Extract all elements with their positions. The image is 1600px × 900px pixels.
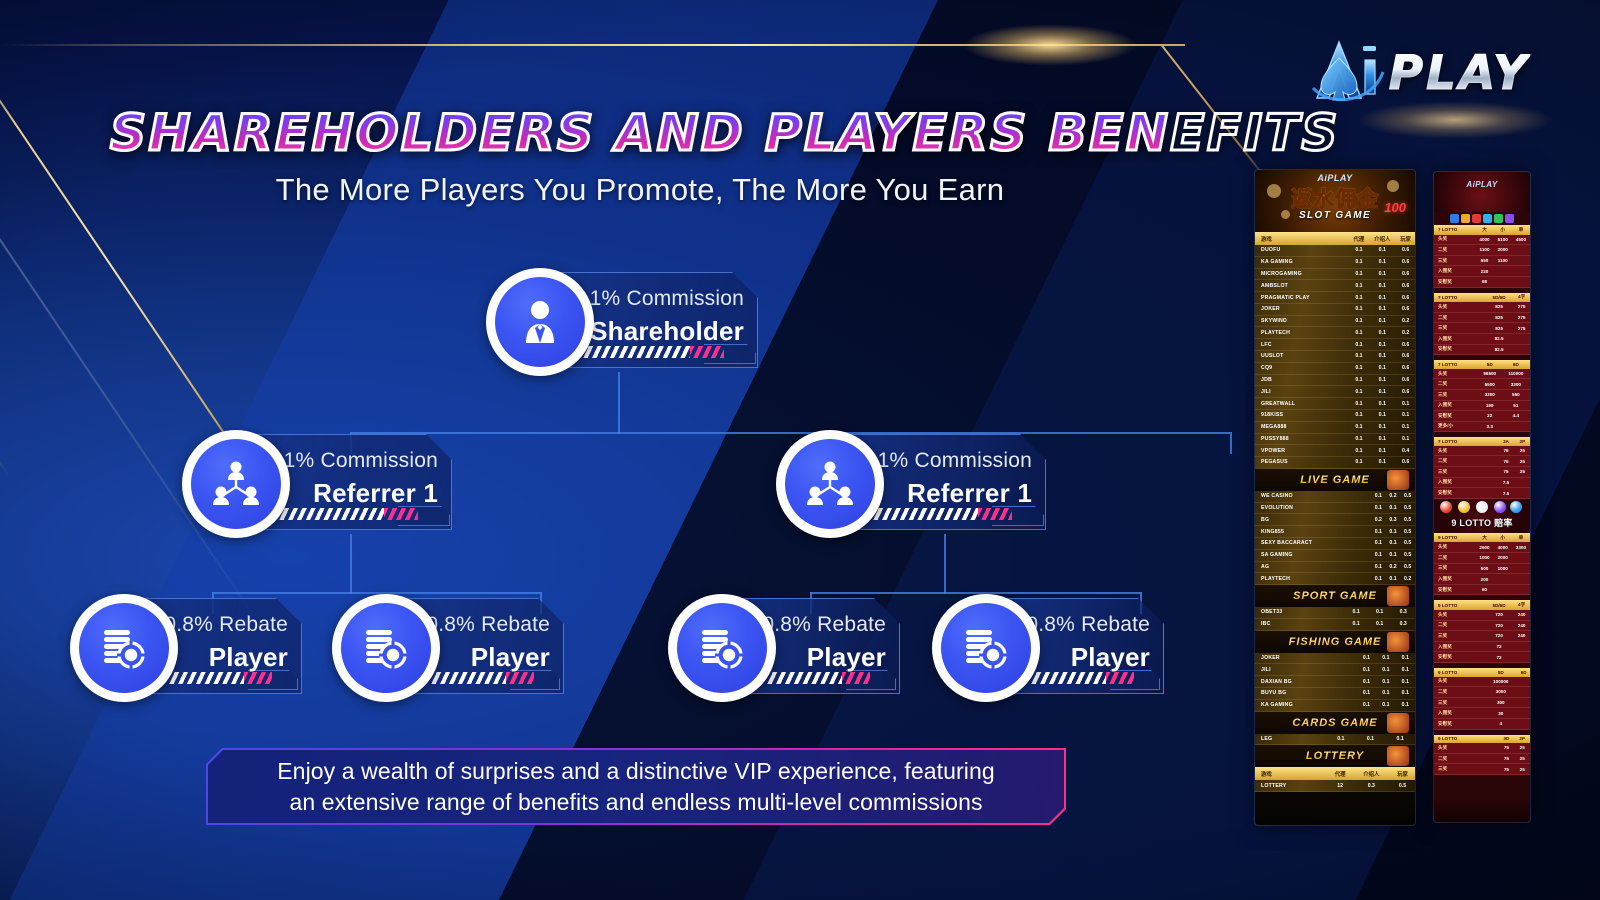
table-cell-odds: 60 — [1475, 584, 1493, 595]
table-cell-game-name: MEGA888 — [1255, 421, 1350, 433]
table-cell-rate: 0.2 — [1396, 315, 1415, 327]
table-cell-game-name: MICROGAMING — [1255, 268, 1350, 280]
phone1-rate-table: WE CASINO0.10.20.5EVOLUTION0.10.10.5BG0.… — [1255, 491, 1415, 585]
table-column-header: 7 LOTTO — [1434, 437, 1497, 446]
table-cell-rate: 0.2 — [1400, 573, 1415, 585]
table-cell-prize-tier: 安慰奖 — [1434, 584, 1475, 595]
table-column-header: 3D — [1498, 735, 1514, 744]
table-cell-rate: 0.1 — [1371, 491, 1386, 502]
table-cell-odds — [1517, 677, 1530, 687]
table-cell-game-name: DAXIAN BG — [1255, 676, 1357, 688]
node-player-2-stripes-accent — [506, 672, 534, 684]
table-cell-odds: 720 — [1485, 631, 1513, 642]
table-cell-rate: 0.1 — [1344, 618, 1368, 630]
vip-banner-line-1: Enjoy a wealth of surprises and a distin… — [277, 756, 995, 787]
table-cell-odds: 75 — [1497, 467, 1514, 478]
node-referrer-right-avatar — [776, 430, 884, 538]
table-cell-game-name: PUSSY888 — [1255, 433, 1350, 445]
table-row: KA GAMING0.10.10.1 — [1255, 699, 1415, 711]
table-cell-rate: 0.1 — [1350, 351, 1369, 363]
phone1-section-title: LIVE GAME — [1255, 469, 1415, 491]
node-shareholder-stripes-accent — [690, 346, 724, 358]
table-row: PUSSY8880.10.10.1 — [1255, 433, 1415, 445]
table-cell-prize-tier: 头奖 — [1434, 235, 1475, 245]
table-cell-prize-tier: 二奖 — [1434, 245, 1475, 256]
table-cell-rate: 0.1 — [1376, 664, 1395, 676]
table-cell-rate: 0.6 — [1396, 339, 1415, 351]
page-title: SHAREHOLDERS AND PLAYERS BENEFITS — [110, 104, 1170, 162]
table-cell-rate: 0.1 — [1350, 445, 1369, 457]
table-cell-game-name: LFC — [1255, 339, 1350, 351]
table-cell-game-name: KING855 — [1255, 526, 1371, 538]
app-icon-3[interactable] — [1472, 214, 1481, 223]
table-cell-prize-tier: 安慰奖 — [1434, 718, 1484, 729]
table-cell-rate: 0.1 — [1350, 327, 1369, 339]
table-column-header: 5D/6D — [1485, 600, 1513, 610]
table-cell-odds: 275 — [1513, 323, 1530, 334]
node-shareholder-avatar — [486, 268, 594, 376]
table-cell-odds: 75 — [1497, 446, 1514, 456]
phone1-section-title-text: LOTTERY — [1306, 750, 1364, 762]
table-cell-rate: 0.5 — [1400, 491, 1415, 502]
table-cell-rate: 0.1 — [1371, 537, 1386, 549]
node-player-3-stripes-accent — [842, 672, 870, 684]
table-cell-odds — [1494, 276, 1512, 287]
table-cell-odds: 2000 — [1494, 553, 1512, 564]
phone1-rate-table: JOKER0.10.10.1JILI0.10.10.1DAXIAN BG0.10… — [1255, 653, 1415, 712]
table-cell-rate: 0.1 — [1350, 457, 1369, 469]
phone2-lotto-banner: 9 LOTTO 赔率 — [1434, 499, 1530, 533]
table-column-header: 2P — [1514, 735, 1530, 744]
phone1-section-title: SPORT GAME — [1255, 585, 1415, 607]
table-cell-odds: 240 — [1513, 620, 1530, 631]
table-cell-prize-tier: 安慰奖 — [1434, 652, 1485, 663]
table-cell-prize-tier: 头奖 — [1434, 369, 1478, 379]
table-cell-odds — [1513, 344, 1530, 355]
table-cell-game-name: GREATWALL — [1255, 398, 1350, 410]
table-cell-prize-tier: 安慰奖 — [1434, 276, 1475, 287]
table-cell-odds: 25 — [1514, 764, 1530, 775]
table-row: KA GAMING0.10.10.6 — [1255, 256, 1415, 268]
phone2-odds-table: 9 LOTTO大小单头奖260040003300二奖10002000三奖5001… — [1434, 533, 1530, 596]
table-cell-prize-tier: 安慰奖 — [1434, 344, 1485, 355]
table-row: 二奖11002000 — [1434, 245, 1530, 256]
table-column-header: 7 LOTTO — [1434, 293, 1485, 303]
table-cell-odds: 25 — [1514, 743, 1530, 753]
casino-chips-icon — [362, 625, 410, 671]
table-cell-odds — [1513, 652, 1530, 663]
table-cell-odds: 25 — [1515, 456, 1530, 467]
table-cell-prize-tier: 三奖 — [1434, 563, 1475, 574]
table-cell-rate: 0.1 — [1350, 339, 1369, 351]
table-cell-rate: 0.1 — [1368, 409, 1396, 421]
table-cell-rate: 0.1 — [1368, 374, 1396, 386]
table-cell-rate: 0.1 — [1396, 433, 1415, 445]
table-cell-prize-tier: 三奖 — [1434, 323, 1485, 334]
table-cell-rate: 0.1 — [1350, 315, 1369, 327]
table-cell-prize-tier: 入围奖 — [1434, 477, 1497, 488]
table-cell-odds — [1512, 266, 1530, 277]
table-cell-rate: 0.6 — [1396, 362, 1415, 374]
table-cell-odds: 100000 — [1484, 677, 1517, 687]
table-cell-rate: 0.1 — [1386, 537, 1401, 549]
table-cell-odds: 75 — [1498, 743, 1514, 753]
phone2-odds-table: 9 LOTTO5D6D头奖100000二奖3000三奖300入围奖30安慰奖4 — [1434, 668, 1530, 730]
table-cell-rate: 0.1 — [1376, 676, 1395, 688]
table-cell-odds: 110000 — [1502, 369, 1530, 379]
table-cell-odds — [1513, 641, 1530, 652]
node-shareholder-stripes — [580, 346, 690, 358]
table-cell-odds: 2000 — [1494, 245, 1512, 256]
table-cell-rate: 0.6 — [1396, 292, 1415, 304]
table-cell-rate: 0.6 — [1396, 303, 1415, 315]
phone2-brand: AiPLAY — [1466, 180, 1497, 189]
node-player-2-stripes — [428, 672, 506, 684]
table-column-header: 小 — [1494, 225, 1512, 235]
table-row: 入围奖200 — [1434, 574, 1530, 585]
spark-decor — [1387, 180, 1399, 192]
table-row: 二奖825275 — [1434, 312, 1530, 323]
table-cell-odds: 7.5 — [1497, 488, 1514, 499]
table-row: BUYU BG0.10.10.1 — [1255, 688, 1415, 700]
table-row: 安慰奖82.5 — [1434, 344, 1530, 355]
table-cell-game-name: PLAYTECH — [1255, 327, 1350, 339]
phone-mockup-lotto-odds[interactable]: AiPLAY 7 LOTTO大小单头奖400051004500二奖1100200… — [1434, 172, 1530, 822]
table-cell-rate: 0.1 — [1371, 549, 1386, 561]
phone1-section-title: LOTTERY — [1255, 745, 1415, 767]
table-cell-odds — [1512, 255, 1530, 266]
phone2-odds-table: 7 LOTTO大小单头奖400051004500二奖11002000三奖5501… — [1434, 225, 1530, 288]
table-row: LFC0.10.10.6 — [1255, 339, 1415, 351]
table-cell-odds: 275 — [1513, 312, 1530, 323]
table-cell-rate: 0.1 — [1368, 245, 1396, 256]
table-cell-prize-tier: 头奖 — [1434, 610, 1485, 620]
table-row: 三奖825275 — [1434, 323, 1530, 334]
table-cell-prize-tier: 入围奖 — [1434, 708, 1484, 719]
node-player-4-avatar — [932, 594, 1040, 702]
table-cell-rate: 0.2 — [1371, 514, 1386, 526]
table-row: 安慰奖72 — [1434, 652, 1530, 663]
spark-decor — [1267, 184, 1281, 198]
phone2-odds-blocks[interactable]: 7 LOTTO大小单头奖400051004500二奖11002000三奖5501… — [1434, 225, 1530, 775]
table-cell-odds — [1512, 574, 1530, 585]
lottery-ball-icon — [1458, 501, 1470, 513]
node-referrer-right-stripes — [870, 508, 978, 520]
table-cell-rate: 0.1 — [1350, 409, 1369, 421]
table-cell-odds — [1502, 421, 1530, 432]
casino-chips-icon — [698, 625, 746, 671]
lottery-ball-icon — [1476, 501, 1488, 513]
table-cell-rate: 0.1 — [1368, 362, 1396, 374]
connector-referrer-right-down — [944, 534, 946, 594]
table-header-row: 9 LOTTO5D6D — [1434, 668, 1530, 677]
table-cell-odds — [1517, 708, 1530, 719]
table-cell-prize-tier: 头奖 — [1434, 446, 1497, 456]
table-cell-prize-tier: 二奖 — [1434, 553, 1475, 564]
table-cell-rate: 0.5 — [1400, 561, 1415, 573]
table-cell-rate: 0.1 — [1368, 327, 1396, 339]
table-cell-odds: 75 — [1497, 456, 1514, 467]
table-row: EVOLUTION0.10.10.5 — [1255, 502, 1415, 514]
vip-banner: Enjoy a wealth of surprises and a distin… — [206, 748, 1066, 825]
table-row: 二奖7525 — [1434, 456, 1530, 467]
table-cell-odds: 75 — [1498, 764, 1514, 775]
table-cell-rate: 0.1 — [1368, 398, 1396, 410]
table-row: PLAYTECH0.10.10.2 — [1255, 573, 1415, 585]
table-cell-rate: 0.1 — [1368, 292, 1396, 304]
table-cell-odds: 72 — [1485, 641, 1513, 652]
table-cell-rate: 0.1 — [1396, 699, 1415, 711]
table-cell-odds: 3.3 — [1478, 421, 1502, 432]
phone1-section-title: CARDS GAME — [1255, 712, 1415, 734]
table-cell-rate: 0.1 — [1350, 280, 1369, 292]
table-cell-prize-tier: 入围奖 — [1434, 266, 1475, 277]
table-cell-odds: 199 — [1478, 400, 1502, 411]
table-row: 头奖825275 — [1434, 302, 1530, 312]
table-cell-rate: 0.1 — [1368, 256, 1396, 268]
table-row: KING8550.10.10.5 — [1255, 526, 1415, 538]
table-column-header: 大 — [1475, 533, 1493, 543]
table-row: 头奖100000 — [1434, 677, 1530, 687]
table-cell-game-name: LEG — [1255, 734, 1326, 745]
app-icon-2[interactable] — [1461, 214, 1470, 223]
table-cell-game-name: DUOFU — [1255, 245, 1350, 256]
table-row: 入围奖72 — [1434, 641, 1530, 652]
person-tie-icon — [518, 299, 562, 345]
table-cell-rate: 0.1 — [1396, 653, 1415, 664]
table-cell-rate: 0.1 — [1396, 421, 1415, 433]
table-cell-odds: 300 — [1484, 697, 1517, 708]
table-cell-odds: 2600 — [1475, 542, 1493, 552]
table-row: 三奖300 — [1434, 697, 1530, 708]
table-cell-rate: 0.1 — [1350, 386, 1369, 398]
table-row: SKYWIND0.10.10.2 — [1255, 315, 1415, 327]
table-row: JILI0.10.10.6 — [1255, 386, 1415, 398]
table-cell-odds: 4000 — [1494, 542, 1512, 552]
table-cell-odds: 3000 — [1484, 687, 1517, 698]
phone2-odds-table: 7 LOTTO3A2P头奖7525二奖7525三奖7525入围奖7.5安慰奖7.… — [1434, 437, 1530, 499]
table-column-header: 5D — [1484, 668, 1517, 677]
table-row: DUOFU0.10.10.6 — [1255, 245, 1415, 256]
table-cell-prize-tier: 二奖 — [1434, 687, 1484, 698]
phone1-brand: AiPLAY — [1317, 173, 1352, 183]
phone2-odds-table: 9 LOTTO3D2P头奖7525二奖7525三奖7525 — [1434, 735, 1530, 775]
table-cell-game-name: WE CASINO — [1255, 491, 1371, 502]
phone1-sections[interactable]: 游戏代理介绍人玩家DUOFU0.10.10.6KA GAMING0.10.10.… — [1255, 232, 1415, 792]
phone2-odds-table: 7 LOTTO5D/6D4字头奖825275二奖825275三奖825275入围… — [1434, 293, 1530, 356]
table-cell-rate: 0.1 — [1368, 268, 1396, 280]
table-cell-rate: 0.4 — [1396, 445, 1415, 457]
table-column-header: 5D/6D — [1485, 293, 1513, 303]
table-column-header: 6D — [1502, 360, 1530, 369]
app-icon-6[interactable] — [1505, 214, 1514, 223]
table-cell-rate: 0.1 — [1356, 734, 1386, 745]
app-icon-5[interactable] — [1494, 214, 1503, 223]
table-column-header: 7 LOTTO — [1434, 225, 1475, 235]
table-cell-rate: 0.1 — [1350, 268, 1369, 280]
table-cell-rate: 0.6 — [1396, 280, 1415, 292]
table-cell-odds — [1512, 563, 1530, 574]
table-row: 入围奖7.5 — [1434, 477, 1530, 488]
table-row: JDB0.10.10.6 — [1255, 374, 1415, 386]
table-row: 入围奖220 — [1434, 266, 1530, 277]
table-column-header: 代理 — [1328, 767, 1353, 780]
table-cell-game-name: PEGASUS — [1255, 457, 1350, 469]
spark-decor — [1281, 210, 1290, 219]
node-referrer-right[interactable]: 0.1% Commission Referrer 1 — [776, 430, 1066, 534]
table-cell-odds: 4 — [1484, 718, 1517, 729]
table-cell-rate: 0.1 — [1396, 409, 1415, 421]
table-row: 三奖5001000 — [1434, 563, 1530, 574]
table-row: UUSLOT0.10.10.6 — [1255, 351, 1415, 363]
table-cell-rate: 0.1 — [1350, 303, 1369, 315]
table-cell-prize-tier: 二奖 — [1434, 753, 1498, 764]
table-header-row: 9 LOTTO3D2P — [1434, 735, 1530, 744]
table-cell-rate: 0.1 — [1368, 445, 1396, 457]
phone1-section-icon — [1387, 746, 1409, 766]
table-column-header: 9 LOTTO — [1434, 668, 1484, 677]
phone1-rate-table: 游戏代理介绍人玩家DUOFU0.10.10.6KA GAMING0.10.10.… — [1255, 232, 1415, 469]
table-cell-rate: 0.1 — [1368, 386, 1396, 398]
table-cell-odds: 25 — [1514, 753, 1530, 764]
app-icon-1[interactable] — [1450, 214, 1459, 223]
node-player-1-stripes-accent — [244, 672, 272, 684]
node-player-1-avatar — [70, 594, 178, 702]
table-cell-odds: 51 — [1502, 400, 1530, 411]
phone1-section-title: FISHING GAME — [1255, 631, 1415, 653]
table-cell-prize-tier: 安慰奖 — [1434, 411, 1478, 422]
table-cell-odds: 720 — [1485, 620, 1513, 631]
table-cell-rate: 0.6 — [1396, 245, 1415, 256]
vip-banner-inner: Enjoy a wealth of surprises and a distin… — [208, 750, 1064, 823]
table-cell-prize-tier: 二奖 — [1434, 620, 1485, 631]
casino-chips-icon — [100, 625, 148, 671]
phone1-section-title-text: FISHING GAME — [1289, 636, 1382, 648]
table-cell-odds — [1494, 584, 1512, 595]
table-cell-game-name: AG — [1255, 561, 1371, 573]
table-row: SA GAMING0.10.10.5 — [1255, 549, 1415, 561]
table-cell-rate: 0.1 — [1386, 526, 1401, 538]
table-header-row: 7 LOTTO3A2P — [1434, 437, 1530, 446]
node-referrer-left-stripes-accent — [384, 508, 418, 520]
node-referrer-right-stripes-accent — [978, 508, 1012, 520]
node-player-1-stripes — [166, 672, 244, 684]
table-header-row: 7 LOTTO5D6D — [1434, 360, 1530, 369]
table-cell-rate: 0.6 — [1396, 457, 1415, 469]
phone1-section-icon — [1387, 470, 1409, 490]
table-column-header: 单 — [1512, 225, 1530, 235]
table-cell-rate: 0.1 — [1350, 292, 1369, 304]
gold-diagonal-line-2 — [0, 120, 10, 478]
table-header-row: 游戏代理介绍人玩家 — [1255, 767, 1415, 780]
casino-chips-icon — [962, 625, 1010, 671]
table-column-header: 游戏 — [1255, 232, 1350, 245]
node-player-3[interactable]: 0.8% Rebate Player — [668, 594, 918, 698]
table-cell-prize-tier: 更多/小 — [1434, 421, 1478, 432]
table-cell-rate: 0.6 — [1396, 268, 1415, 280]
table-row: BG0.20.30.5 — [1255, 514, 1415, 526]
table-cell-rate: 0.1 — [1350, 398, 1369, 410]
table-cell-odds: 7.5 — [1497, 477, 1514, 488]
node-player-2-avatar — [332, 594, 440, 702]
table-cell-rate: 0.1 — [1357, 664, 1376, 676]
table-cell-prize-tier: 安慰奖 — [1434, 488, 1497, 499]
table-column-header: 小 — [1494, 533, 1512, 543]
phone2-odds-table: 7 LOTTO5D6D头奖96500110000二奖55003300三奖3300… — [1434, 360, 1530, 432]
table-cell-prize-tier: 二奖 — [1434, 312, 1485, 323]
table-row: 二奖7525 — [1434, 753, 1530, 764]
table-cell-rate: 0.1 — [1396, 398, 1415, 410]
table-cell-rate: 0.1 — [1371, 561, 1386, 573]
table-cell-game-name: SKYWIND — [1255, 315, 1350, 327]
app-icon-4[interactable] — [1483, 214, 1492, 223]
table-cell-game-name: PLAYTECH — [1255, 573, 1371, 585]
table-row: AG0.10.20.5 — [1255, 561, 1415, 573]
table-row: GREATWALL0.10.10.1 — [1255, 398, 1415, 410]
table-cell-prize-tier: 二奖 — [1434, 456, 1497, 467]
table-row: 安慰奖224.4 — [1434, 411, 1530, 422]
table-cell-odds — [1517, 697, 1530, 708]
table-cell-rate: 0.1 — [1368, 351, 1396, 363]
table-cell-rate: 0.1 — [1344, 607, 1368, 618]
lottery-ball-icon — [1510, 501, 1522, 513]
gold-glow-flare — [930, 16, 1170, 74]
table-cell-odds — [1512, 584, 1530, 595]
phone2-icon-row[interactable] — [1434, 212, 1530, 225]
node-player-1[interactable]: 0.8% Rebate Player — [70, 594, 320, 698]
table-column-header: 9 LOTTO — [1434, 600, 1485, 610]
table-cell-odds: 825 — [1485, 323, 1513, 334]
table-column-header: 6D — [1517, 668, 1530, 677]
brand-logo-text: PLAY — [1389, 46, 1530, 101]
table-row: VPOWER0.10.10.4 — [1255, 445, 1415, 457]
table-cell-odds: 25 — [1515, 467, 1530, 478]
table-cell-rate: 0.1 — [1368, 339, 1396, 351]
table-cell-game-name: SA GAMING — [1255, 549, 1371, 561]
table-cell-odds: 68 — [1475, 276, 1493, 287]
table-cell-rate: 0.1 — [1350, 245, 1369, 256]
table-cell-rate: 0.1 — [1368, 607, 1392, 618]
table-cell-odds: 1000 — [1475, 553, 1493, 564]
node-referrer-left[interactable]: 0.1% Commission Referrer 1 — [182, 430, 472, 534]
table-row: 安慰奖7.5 — [1434, 488, 1530, 499]
table-cell-rate: 0.5 — [1400, 537, 1415, 549]
table-cell-prize-tier: 入围奖 — [1434, 641, 1485, 652]
table-cell-prize-tier: 入围奖 — [1434, 574, 1475, 585]
table-header-row: 9 LOTTO5D/6D4字 — [1434, 600, 1530, 610]
table-header-row: 游戏代理介绍人玩家 — [1255, 232, 1415, 245]
node-player-4[interactable]: 0.8% Rebate Player — [932, 594, 1182, 698]
table-cell-rate: 0.1 — [1368, 433, 1396, 445]
table-cell-odds — [1512, 276, 1530, 287]
phone-mockup-commission-rates[interactable]: AiPLAY 返水佣金 SLOT GAME 100 游戏代理介绍人玩家DUOFU… — [1255, 170, 1415, 825]
table-row: JILI0.10.10.1 — [1255, 664, 1415, 676]
table-row: MICROGAMING0.10.10.6 — [1255, 268, 1415, 280]
phone1-hero-headline: 返水佣金 — [1291, 183, 1379, 213]
vip-banner-text: Enjoy a wealth of surprises and a distin… — [277, 756, 995, 817]
table-row: 头奖400051004500 — [1434, 235, 1530, 245]
table-cell-odds — [1512, 553, 1530, 564]
table-cell-odds: 22 — [1478, 411, 1502, 422]
table-cell-rate: 0.2 — [1386, 491, 1401, 502]
table-cell-odds: 240 — [1513, 631, 1530, 642]
node-shareholder[interactable]: 0.1% Commission Shareholder — [486, 268, 766, 372]
node-player-2[interactable]: 0.8% Rebate Player — [332, 594, 582, 698]
table-row: 918KISS0.10.10.1 — [1255, 409, 1415, 421]
table-column-header: 9 LOTTO — [1434, 735, 1498, 744]
table-cell-odds — [1515, 477, 1530, 488]
table-cell-odds: 96500 — [1478, 369, 1502, 379]
